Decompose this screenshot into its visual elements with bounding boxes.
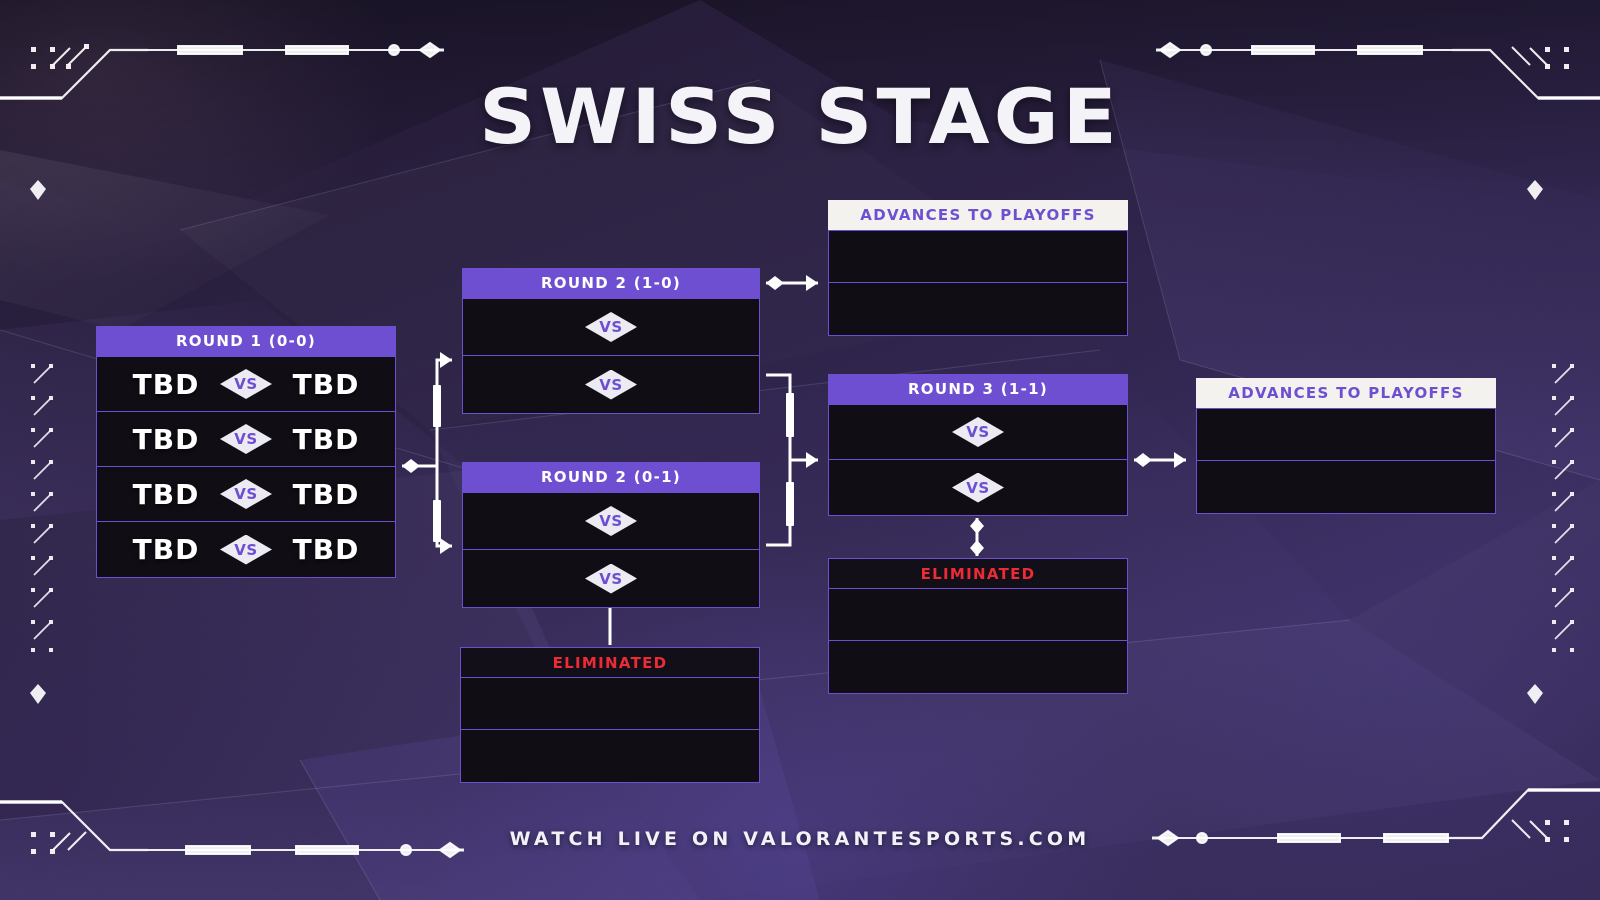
team-left: TBD	[118, 533, 214, 566]
advances-right-slot-2[interactable]	[1197, 461, 1495, 513]
eliminated-mid-slots	[460, 677, 760, 783]
round-2-win-match-2[interactable]: VS	[463, 356, 759, 413]
round-2-loss-header: ROUND 2 (0-1)	[462, 462, 760, 492]
round-1-match-1[interactable]: TBD VS TBD	[97, 357, 395, 412]
eliminated-right-block: ELIMINATED	[828, 558, 1128, 694]
eliminated-right-slots	[828, 588, 1128, 694]
team-left: TBD	[118, 423, 214, 456]
eliminated-mid-block: ELIMINATED	[460, 647, 760, 783]
eliminated-right-slot-2[interactable]	[829, 641, 1127, 693]
advances-right-header: ADVANCES TO PLAYOFFS	[1196, 378, 1496, 408]
round-1-match-4[interactable]: TBD VS TBD	[97, 522, 395, 577]
vs-badge: VS	[585, 564, 637, 594]
round-2-loss-match-1[interactable]: VS	[463, 493, 759, 550]
team-right: TBD	[278, 368, 374, 401]
round-3-block: ROUND 3 (1-1) VS VS	[828, 374, 1128, 516]
advances-right-slot-1[interactable]	[1197, 409, 1495, 461]
round-2-loss-match-2[interactable]: VS	[463, 550, 759, 607]
round-1-match-3[interactable]: TBD VS TBD	[97, 467, 395, 522]
round-2-win-header: ROUND 2 (1-0)	[462, 268, 760, 298]
advances-right-block: ADVANCES TO PLAYOFFS	[1196, 378, 1496, 514]
round-2-win-block: ROUND 2 (1-0) VS VS	[462, 268, 760, 414]
round-2-win-match-1[interactable]: VS	[463, 299, 759, 356]
vs-badge: VS	[585, 312, 637, 342]
watch-live-footer: WATCH LIVE ON VALORANTESPORTS.COM	[0, 828, 1600, 850]
advances-top-slot-2[interactable]	[829, 283, 1127, 335]
vs-badge: VS	[952, 473, 1004, 503]
vs-badge: VS	[220, 535, 272, 565]
round-2-win-matches: VS VS	[462, 298, 760, 414]
advances-top-slot-1[interactable]	[829, 231, 1127, 283]
round-1-match-2[interactable]: TBD VS TBD	[97, 412, 395, 467]
advances-right-slots	[1196, 408, 1496, 514]
advances-top-header: ADVANCES TO PLAYOFFS	[828, 200, 1128, 230]
advances-top-slots	[828, 230, 1128, 336]
vs-badge: VS	[952, 417, 1004, 447]
round-3-match-1[interactable]: VS	[829, 405, 1127, 460]
round-1-block: ROUND 1 (0-0) TBD VS TBD TBD VS TBD TBD …	[96, 326, 396, 578]
round-2-loss-matches: VS VS	[462, 492, 760, 608]
eliminated-mid-slot-1[interactable]	[461, 678, 759, 730]
advances-top-block: ADVANCES TO PLAYOFFS	[828, 200, 1128, 336]
page-title: SWISS STAGE	[0, 72, 1600, 161]
vs-badge: VS	[220, 369, 272, 399]
eliminated-right-slot-1[interactable]	[829, 589, 1127, 641]
round-2-loss-block: ROUND 2 (0-1) VS VS	[462, 462, 760, 608]
eliminated-right-header: ELIMINATED	[828, 558, 1128, 588]
team-left: TBD	[118, 368, 214, 401]
round-3-header: ROUND 3 (1-1)	[828, 374, 1128, 404]
round-1-header: ROUND 1 (0-0)	[96, 326, 396, 356]
team-right: TBD	[278, 533, 374, 566]
team-right: TBD	[278, 478, 374, 511]
team-right: TBD	[278, 423, 374, 456]
round-3-matches: VS VS	[828, 404, 1128, 516]
eliminated-mid-slot-2[interactable]	[461, 730, 759, 782]
vs-badge: VS	[585, 506, 637, 536]
team-left: TBD	[118, 478, 214, 511]
round-1-matches: TBD VS TBD TBD VS TBD TBD VS TBD TBD VS …	[96, 356, 396, 578]
vs-badge: VS	[585, 370, 637, 400]
eliminated-mid-header: ELIMINATED	[460, 647, 760, 677]
vs-badge: VS	[220, 479, 272, 509]
vs-badge: VS	[220, 424, 272, 454]
round-3-match-2[interactable]: VS	[829, 460, 1127, 515]
